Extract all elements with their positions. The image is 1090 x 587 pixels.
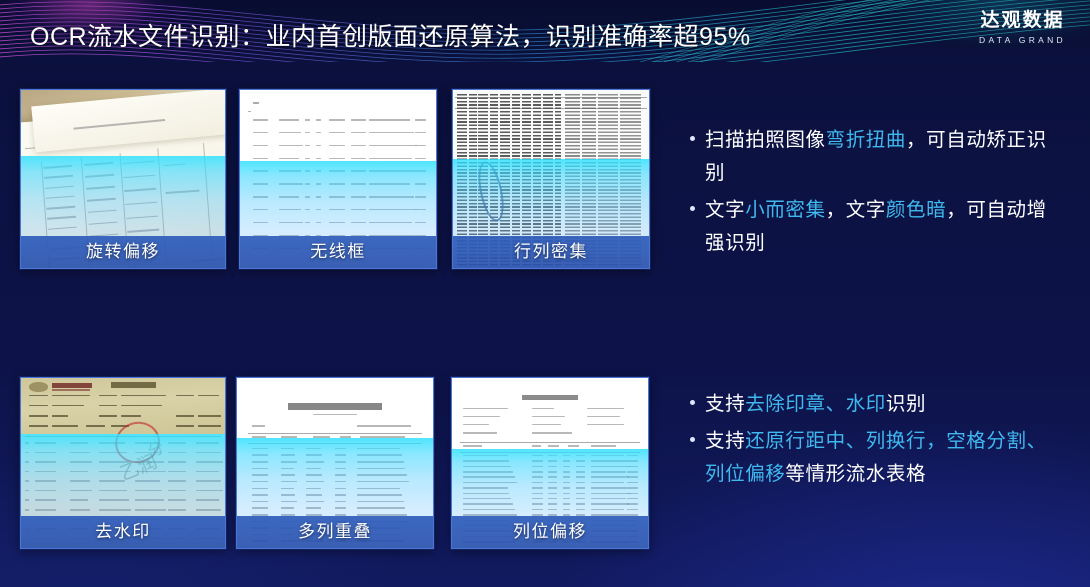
document-text-line bbox=[279, 170, 301, 172]
document-text-line bbox=[253, 119, 268, 121]
document-text-line bbox=[25, 461, 29, 463]
document-text-line bbox=[316, 119, 322, 121]
highlight-text: 弯折扭曲 bbox=[826, 129, 906, 151]
document-text-line bbox=[548, 471, 557, 473]
document-text-line bbox=[35, 480, 55, 482]
document-text-line bbox=[563, 493, 570, 495]
document-text-line bbox=[335, 454, 346, 456]
document-text-line bbox=[306, 468, 320, 470]
document-text-line bbox=[70, 499, 88, 501]
document-text-line bbox=[279, 222, 303, 224]
document-text-line bbox=[281, 474, 295, 476]
document-text-line bbox=[329, 196, 346, 198]
document-text-line bbox=[99, 499, 130, 501]
document-text-line bbox=[415, 222, 426, 224]
document-text-line bbox=[135, 499, 164, 501]
document-text-line bbox=[591, 498, 626, 500]
brand-logo-cn: 达观数据 bbox=[979, 10, 1066, 32]
document-text-line bbox=[591, 493, 632, 495]
document-text-line bbox=[316, 132, 322, 134]
document-text-line bbox=[576, 509, 585, 511]
document-text-line bbox=[591, 476, 630, 478]
document-text-line bbox=[281, 454, 295, 456]
document-text-line bbox=[252, 507, 268, 509]
brand-logo: 达观数据 DATA GRAND bbox=[979, 10, 1066, 46]
document-text-line bbox=[253, 132, 268, 134]
document-text-line bbox=[253, 196, 268, 198]
document-text-line bbox=[591, 509, 624, 511]
document-text-line bbox=[335, 501, 346, 503]
cert-statement-title bbox=[522, 395, 577, 401]
document-text-line bbox=[627, 460, 638, 462]
document-text-line bbox=[281, 488, 294, 490]
bank-logo-badge bbox=[29, 382, 47, 392]
document-text-line bbox=[463, 482, 516, 484]
document-text-line bbox=[316, 222, 322, 224]
bullet-text-distortion: 扫描拍照图像弯折扭曲，可自动矫正识别 bbox=[705, 124, 1060, 190]
document-text-line bbox=[415, 158, 426, 160]
document-text-line bbox=[357, 468, 406, 470]
document-text-line bbox=[576, 455, 585, 457]
document-text-line bbox=[591, 503, 630, 505]
document-text-line bbox=[369, 183, 410, 185]
document-text-line bbox=[532, 455, 543, 457]
document-text-line bbox=[168, 442, 186, 444]
document-text-line bbox=[351, 196, 366, 198]
bullet-item-layout-restoration: 支持还原行距中、列换行，空格分割、列位偏移等情形流水表格 bbox=[688, 425, 1060, 491]
document-text-line bbox=[305, 170, 311, 172]
document-text-line bbox=[351, 222, 366, 224]
document-text-line bbox=[35, 471, 55, 473]
document-text-line bbox=[253, 209, 268, 211]
document-text-line bbox=[563, 498, 570, 500]
document-text-line bbox=[329, 183, 346, 185]
document-text-line bbox=[532, 503, 543, 505]
document-text-line bbox=[576, 482, 585, 484]
document-text-line bbox=[306, 501, 324, 503]
document-text-line bbox=[627, 455, 638, 457]
document-text-line bbox=[591, 471, 626, 473]
document-text-line bbox=[576, 493, 585, 495]
document-text-line bbox=[563, 476, 570, 478]
document-text-line bbox=[357, 448, 400, 450]
document-text-line bbox=[196, 499, 218, 501]
document-text-line bbox=[576, 487, 585, 489]
document-text-line bbox=[357, 494, 402, 496]
thumbnail-caption-multicolumn: 多列重叠 bbox=[237, 516, 433, 548]
document-text-line bbox=[281, 494, 295, 496]
document-text-line bbox=[168, 499, 186, 501]
document-text-line bbox=[415, 132, 426, 134]
document-text-line bbox=[335, 474, 346, 476]
plain-text: 支持 bbox=[705, 393, 745, 415]
document-text-line bbox=[329, 209, 346, 211]
document-text-line bbox=[253, 158, 268, 160]
document-text-line bbox=[168, 509, 186, 511]
document-text-line bbox=[548, 487, 557, 489]
document-text-line bbox=[532, 466, 543, 468]
document-text-line bbox=[548, 476, 557, 478]
document-text-line bbox=[415, 170, 426, 172]
bullet-text-layout: 支持还原行距中、列换行，空格分割、列位偏移等情形流水表格 bbox=[705, 425, 1060, 491]
document-text-line bbox=[279, 196, 299, 198]
document-text-line bbox=[252, 448, 268, 450]
document-text-line bbox=[357, 461, 404, 463]
document-text-line bbox=[253, 222, 268, 224]
document-text-line bbox=[357, 488, 400, 490]
document-text-line bbox=[357, 481, 409, 483]
document-text-line bbox=[563, 509, 570, 511]
document-text-line bbox=[305, 183, 311, 185]
document-text-line bbox=[576, 460, 585, 462]
document-text-line bbox=[253, 183, 268, 185]
document-text-line bbox=[335, 448, 346, 450]
document-text-line bbox=[563, 455, 570, 457]
document-text-line bbox=[196, 471, 218, 473]
document-text-line bbox=[627, 503, 638, 505]
document-text-line bbox=[279, 145, 303, 147]
document-text-line bbox=[135, 490, 162, 492]
document-text-line bbox=[369, 222, 411, 224]
document-text-line bbox=[35, 442, 55, 444]
document-text-line bbox=[351, 119, 366, 121]
document-text-line bbox=[305, 145, 311, 147]
document-text-line bbox=[99, 480, 126, 482]
document-text-line bbox=[351, 145, 366, 147]
document-text-line bbox=[281, 461, 297, 463]
document-text-line bbox=[591, 487, 628, 489]
document-text-line bbox=[281, 448, 294, 450]
document-text-line bbox=[252, 481, 268, 483]
thumbnail-caption-watermark: 去水印 bbox=[21, 516, 225, 548]
document-text-line bbox=[335, 488, 346, 490]
document-text-line bbox=[316, 145, 322, 147]
bullet-item-small-dense-text: 文字小而密集，文字颜色暗，可自动增强识别 bbox=[688, 194, 1060, 260]
document-text-line bbox=[279, 209, 301, 211]
document-text-line bbox=[306, 481, 324, 483]
document-text-line bbox=[252, 454, 268, 456]
document-text-line bbox=[369, 132, 413, 134]
document-text-line bbox=[627, 498, 638, 500]
document-text-line bbox=[627, 509, 638, 511]
document-text-line bbox=[532, 493, 543, 495]
document-text-line bbox=[627, 466, 638, 468]
document-text-line bbox=[357, 507, 406, 509]
document-text-line bbox=[306, 448, 320, 450]
document-text-line bbox=[335, 461, 346, 463]
document-text-line bbox=[369, 209, 417, 211]
document-text-line bbox=[463, 503, 513, 505]
thumbnail-borderless-table[interactable]: 无线框 bbox=[239, 89, 437, 269]
document-text-line bbox=[25, 509, 29, 511]
document-text-line bbox=[563, 482, 570, 484]
document-text-line bbox=[196, 442, 218, 444]
document-text-line bbox=[463, 466, 511, 468]
document-text-line bbox=[329, 170, 346, 172]
thumbnail-remove-watermark[interactable]: 乙润 分 去水印 bbox=[20, 377, 226, 549]
document-text-line bbox=[305, 158, 311, 160]
document-text-line bbox=[253, 145, 268, 147]
document-text-line bbox=[415, 145, 426, 147]
bullet-text-seal: 支持去除印章、水印识别 bbox=[705, 388, 1060, 421]
document-text-line bbox=[305, 222, 311, 224]
document-text-line bbox=[576, 498, 585, 500]
document-text-line bbox=[329, 145, 346, 147]
bullet-item-seal-watermark: 支持去除印章、水印识别 bbox=[688, 388, 1060, 421]
document-text-line bbox=[70, 490, 92, 492]
document-text-line bbox=[591, 460, 628, 462]
document-text-line bbox=[563, 487, 570, 489]
document-text-line bbox=[329, 132, 346, 134]
document-text-line bbox=[532, 498, 543, 500]
plain-text: 等情形流水表格 bbox=[785, 463, 926, 485]
document-text-line bbox=[70, 471, 88, 473]
document-text-line bbox=[532, 482, 543, 484]
document-text-line bbox=[252, 488, 268, 490]
document-text-line bbox=[548, 466, 557, 468]
page-title: OCR流水文件识别：业内首创版面还原算法，识别准确率超95% bbox=[30, 17, 751, 53]
document-text-line bbox=[279, 158, 299, 160]
plain-text: 支持 bbox=[705, 430, 745, 452]
document-text-line bbox=[563, 466, 570, 468]
document-text-line bbox=[351, 158, 366, 160]
bank-name-block bbox=[52, 383, 93, 387]
document-text-line bbox=[99, 490, 128, 492]
document-text-line bbox=[463, 471, 513, 473]
document-text-line bbox=[70, 461, 92, 463]
document-text-line bbox=[463, 493, 509, 495]
ccb-statement-title bbox=[288, 403, 382, 410]
highlight-text: 去除印章、水印 bbox=[745, 393, 886, 415]
document-text-line bbox=[591, 466, 632, 468]
document-text-line bbox=[196, 509, 220, 511]
document-text-line bbox=[25, 452, 29, 454]
thumbnail-dense-rows-cols[interactable]: 行列密集 bbox=[452, 89, 650, 269]
document-text-line bbox=[463, 509, 515, 511]
document-text-line bbox=[563, 460, 570, 462]
document-text-line bbox=[369, 196, 413, 198]
thumbnail-caption-rotation: 旋转偏移 bbox=[21, 236, 225, 268]
bullet-list-bottom: 支持去除印章、水印识别 支持还原行距中、列换行，空格分割、列位偏移等情形流水表格 bbox=[688, 388, 1060, 495]
document-text-line bbox=[70, 452, 90, 454]
document-text-line bbox=[463, 455, 507, 457]
document-text-line bbox=[168, 480, 186, 482]
thumbnail-caption-dense: 行列密集 bbox=[453, 236, 649, 268]
document-text-line bbox=[351, 170, 366, 172]
thumbnail-rotation-offset[interactable]: 旋转偏移 bbox=[20, 89, 226, 269]
document-text-line bbox=[279, 183, 303, 185]
statement-title-block bbox=[111, 382, 156, 387]
document-text-line bbox=[563, 471, 570, 473]
document-text-line bbox=[25, 442, 29, 444]
highlight-text: 小而密集 bbox=[745, 199, 825, 221]
document-text-line bbox=[168, 471, 186, 473]
document-text-line bbox=[335, 494, 346, 496]
document-text-line bbox=[415, 183, 426, 185]
thumbnail-caption-borderless: 无线框 bbox=[240, 236, 436, 268]
bullet-list-top: 扫描拍照图像弯折扭曲，可自动矫正识别 文字小而密集，文字颜色暗，可自动增强识别 bbox=[688, 124, 1060, 264]
document-text-line bbox=[591, 482, 624, 484]
document-text-line bbox=[70, 509, 90, 511]
document-text-line bbox=[70, 480, 90, 482]
document-text-line bbox=[329, 222, 346, 224]
document-text-line bbox=[548, 498, 557, 500]
document-text-line bbox=[335, 481, 346, 483]
document-text-line bbox=[415, 119, 426, 121]
document-text-line bbox=[316, 183, 322, 185]
document-text-line bbox=[532, 509, 543, 511]
document-text-line bbox=[196, 461, 223, 463]
document-text-line bbox=[305, 196, 311, 198]
plain-text: 识别 bbox=[886, 393, 926, 415]
document-text-line bbox=[70, 442, 88, 444]
document-text-line bbox=[196, 480, 220, 482]
document-text-line bbox=[306, 507, 320, 509]
document-text-line bbox=[627, 487, 638, 489]
document-text-line bbox=[548, 503, 557, 505]
document-text-line bbox=[279, 119, 299, 121]
bullet-item-distortion-correction: 扫描拍照图像弯折扭曲，可自动矫正识别 bbox=[688, 124, 1060, 190]
thumbnail-caption-columnshift: 列位偏移 bbox=[452, 516, 648, 548]
slide-canvas: OCR流水文件识别：业内首创版面还原算法，识别准确率超95% 达观数据 DATA… bbox=[0, 0, 1090, 587]
document-text-line bbox=[305, 209, 311, 211]
document-text-line bbox=[99, 509, 132, 511]
thumbnail-multi-column-overlap[interactable]: 多列重叠 bbox=[236, 377, 434, 549]
document-text-line bbox=[25, 499, 29, 501]
document-text-line bbox=[306, 461, 324, 463]
document-text-line bbox=[316, 170, 322, 172]
header-band: OCR流水文件识别：业内首创版面还原算法，识别准确率超95% 达观数据 DATA… bbox=[0, 0, 1090, 62]
document-text-line bbox=[279, 132, 301, 134]
document-text-line bbox=[415, 209, 426, 211]
document-text-line bbox=[252, 501, 268, 503]
document-text-line bbox=[281, 501, 297, 503]
document-text-line bbox=[369, 119, 410, 121]
document-text-line bbox=[548, 460, 557, 462]
document-text-line bbox=[135, 509, 166, 511]
document-text-line bbox=[305, 132, 311, 134]
document-text-line bbox=[369, 158, 411, 160]
document-text-line bbox=[548, 493, 557, 495]
document-text-line bbox=[548, 482, 557, 484]
document-text-line bbox=[25, 490, 29, 492]
document-text-line bbox=[35, 461, 55, 463]
document-text-line bbox=[627, 476, 638, 478]
document-text-line bbox=[576, 503, 585, 505]
plain-text: ，文字 bbox=[826, 199, 886, 221]
document-text-line bbox=[463, 476, 515, 478]
document-text-line bbox=[591, 455, 624, 457]
thumbnail-column-shift[interactable]: 列位偏移 bbox=[451, 377, 649, 549]
document-text-line bbox=[316, 158, 322, 160]
document-text-line bbox=[168, 490, 186, 492]
document-text-line bbox=[415, 196, 426, 198]
document-text-line bbox=[306, 454, 322, 456]
document-text-line bbox=[35, 509, 55, 511]
document-text-line bbox=[369, 170, 415, 172]
document-text-line bbox=[253, 170, 268, 172]
document-text-line bbox=[576, 466, 585, 468]
document-text-line bbox=[196, 490, 223, 492]
document-text-line bbox=[563, 503, 570, 505]
document-text-line bbox=[463, 498, 511, 500]
document-text-line bbox=[576, 471, 585, 473]
document-text-line bbox=[316, 209, 322, 211]
document-text-line bbox=[316, 196, 322, 198]
document-text-line bbox=[306, 488, 320, 490]
document-text-line bbox=[252, 468, 268, 470]
document-text-line bbox=[357, 501, 404, 503]
document-text-line bbox=[35, 452, 55, 454]
document-text-line bbox=[351, 132, 366, 134]
document-text-line bbox=[627, 482, 638, 484]
document-text-line bbox=[576, 476, 585, 478]
document-text-line bbox=[306, 474, 322, 476]
document-text-line bbox=[281, 507, 294, 509]
document-text-line bbox=[357, 474, 407, 476]
document-text-line bbox=[329, 158, 346, 160]
document-text-line bbox=[532, 471, 543, 473]
document-text-line bbox=[532, 476, 543, 478]
document-text-line bbox=[35, 499, 55, 501]
document-text-line bbox=[252, 494, 268, 496]
document-text-line bbox=[252, 461, 268, 463]
document-text-line bbox=[357, 454, 402, 456]
document-text-line bbox=[281, 468, 294, 470]
document-text-line bbox=[627, 471, 638, 473]
document-text-line bbox=[532, 487, 543, 489]
bullet-text-dense: 文字小而密集，文字颜色暗，可自动增强识别 bbox=[705, 194, 1060, 260]
document-text-line bbox=[463, 487, 507, 489]
document-text-line bbox=[369, 145, 417, 147]
document-text-line bbox=[252, 474, 268, 476]
document-text-line bbox=[168, 452, 186, 454]
document-text-line bbox=[329, 119, 346, 121]
document-text-line bbox=[281, 481, 297, 483]
plain-text: 文字 bbox=[705, 199, 745, 221]
document-text-line bbox=[627, 493, 638, 495]
document-text-line bbox=[351, 209, 366, 211]
plain-text: 扫描拍照图像 bbox=[705, 129, 826, 151]
document-text-line bbox=[548, 509, 557, 511]
document-text-line bbox=[25, 480, 29, 482]
document-text-line bbox=[335, 507, 346, 509]
document-text-line bbox=[168, 461, 186, 463]
document-text-line bbox=[463, 460, 509, 462]
document-text-line bbox=[335, 468, 346, 470]
document-text-line bbox=[305, 119, 311, 121]
highlight-text: 颜色暗 bbox=[886, 199, 946, 221]
document-text-line bbox=[306, 494, 322, 496]
document-text-line bbox=[35, 490, 55, 492]
document-text-line bbox=[351, 183, 366, 185]
document-text-line bbox=[196, 452, 220, 454]
brand-logo-en: DATA GRAND bbox=[979, 34, 1066, 46]
document-text-line bbox=[25, 471, 29, 473]
document-text-line bbox=[532, 460, 543, 462]
document-text-line bbox=[548, 455, 557, 457]
